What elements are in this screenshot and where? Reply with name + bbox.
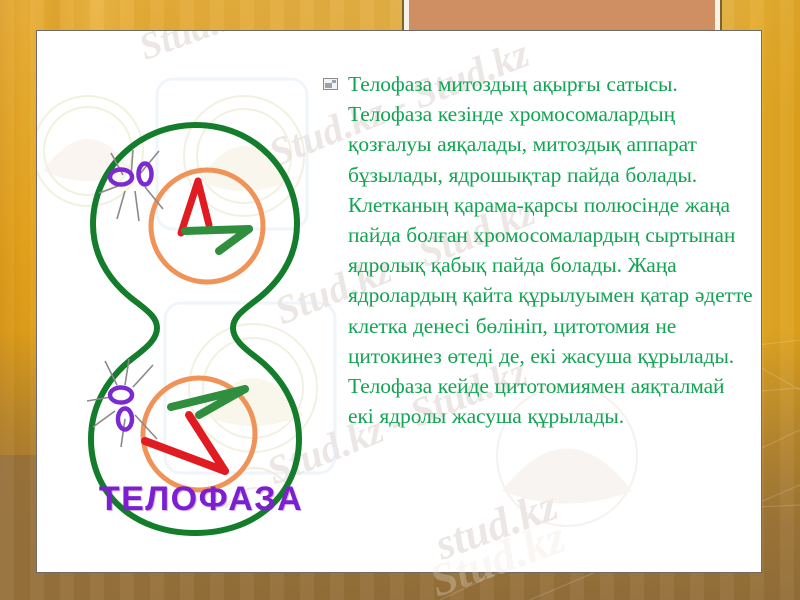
lower-centriole-a (110, 388, 132, 403)
watermark: stud.kz (428, 479, 564, 570)
slide-canvas: Stud.kz - Stud.kz Stud.kz - Stud.kz Stud… (0, 0, 800, 600)
telophase-cell-diagram (59, 119, 329, 539)
diagram-caption: ТЕЛОФАЗА (71, 480, 331, 519)
lower-chromosome-green (171, 389, 245, 415)
watermark: Stud.kz (133, 30, 256, 70)
lower-chromosome-red (145, 415, 225, 471)
body-text-block: Телофаза митоздың ақырғы сатысы. Телофаз… (323, 69, 753, 431)
upper-chromosome-red (181, 181, 209, 233)
upper-chromosome-green (185, 229, 249, 251)
upper-centriole-a (110, 170, 132, 185)
content-placeholder-icon (323, 78, 338, 90)
bullet-row: Телофаза митоздың ақырғы сатысы. Телофаз… (323, 69, 753, 431)
content-panel: Stud.kz - Stud.kz Stud.kz - Stud.kz Stud… (36, 30, 762, 573)
body-paragraph: Телофаза митоздың ақырғы сатысы. Телофаз… (323, 69, 753, 431)
